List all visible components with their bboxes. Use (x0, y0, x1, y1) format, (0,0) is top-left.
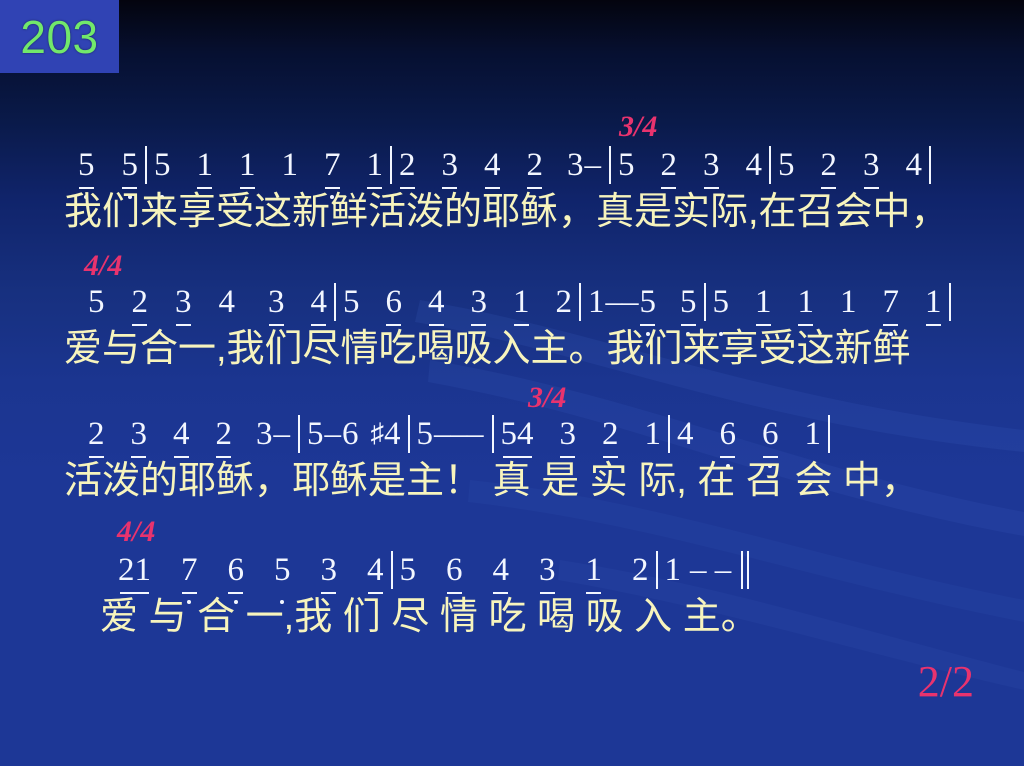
note: 5 (122, 149, 139, 182)
barline (145, 146, 147, 184)
note: 5 (307, 418, 324, 451)
note: 5 (501, 418, 518, 451)
note: 4 (517, 418, 534, 451)
barline (492, 415, 494, 453)
note-extension-dash: – – (689, 554, 732, 587)
notation-row-1: 5551117123423–52345234 (78, 146, 938, 184)
note: 5 (640, 286, 657, 319)
note: 3 (268, 286, 285, 319)
beamed-note-pair: 54 (501, 418, 534, 451)
note: 6 (228, 554, 245, 587)
note: 3 (863, 149, 880, 182)
lyrics-row-2: 爱与合一,我们尽情吃喝吸入主。我们来享受这新鲜 (64, 329, 911, 371)
note: 2 (118, 554, 135, 587)
note: 3 (567, 149, 584, 182)
notation-row-4: 21765345643121– – (118, 551, 749, 596)
hymn-number-badge: 203 (0, 0, 119, 73)
barline (334, 283, 336, 321)
barline (949, 283, 951, 321)
barline (656, 551, 658, 589)
note: 2 (399, 149, 416, 182)
note: 2 (132, 286, 149, 319)
note: 5 (343, 286, 360, 319)
note: 7 (181, 554, 198, 587)
barline (769, 146, 771, 184)
note: 6 (342, 418, 359, 451)
page-number: 2/2 (918, 660, 974, 704)
lyrics-row-1: 我们来享受这新鲜活泼的耶稣，真是实际,在召会中， (64, 192, 949, 234)
final-double-barline (741, 551, 749, 596)
time-signature-2: 4/4 (84, 251, 122, 281)
barline (579, 283, 581, 321)
note: 4 (173, 418, 190, 451)
background-swoosh-decoration (0, 0, 1024, 766)
note: 5 (417, 418, 434, 451)
note: 1 (239, 149, 256, 182)
note: 1 (135, 554, 152, 587)
note: 1 (925, 286, 942, 319)
note-extension-dash: –– (605, 286, 640, 319)
note: 7 (324, 149, 341, 182)
note: 2 (527, 149, 544, 182)
note: 2 (556, 286, 573, 319)
note: 1 (755, 286, 772, 319)
note: 5 (778, 149, 795, 182)
note: 4 (428, 286, 445, 319)
note-extension-dash: ––– (433, 418, 485, 451)
note: 6 (446, 554, 463, 587)
note: 4 (746, 149, 763, 182)
note: 2 (821, 149, 838, 182)
barline (668, 415, 670, 453)
note: 2 (661, 149, 678, 182)
note: 5 (680, 286, 697, 319)
note: 4 (484, 149, 501, 182)
note: 1 (798, 286, 815, 319)
note: 3 (539, 554, 556, 587)
barline (704, 283, 706, 321)
sharp-accidental-icon: ♯ (371, 420, 385, 447)
note: 2 (632, 554, 649, 587)
note: 2 (88, 418, 105, 451)
note: 7 (883, 286, 900, 319)
note: 4 (677, 418, 694, 451)
note: 1 (197, 149, 214, 182)
note: 3 (560, 418, 577, 451)
note-extension-dash: – (273, 418, 292, 451)
note: 1 (586, 554, 603, 587)
notation-row-2: 5234345643121––55511171 (88, 283, 958, 321)
note: 5 (88, 286, 105, 319)
note: 1 (840, 286, 857, 319)
note: 4 (367, 554, 384, 587)
note: 3 (442, 149, 459, 182)
note: 2 (216, 418, 233, 451)
barline (828, 415, 830, 453)
note: 1 (588, 286, 605, 319)
note: 4 (219, 286, 236, 319)
barline (929, 146, 931, 184)
barline (408, 415, 410, 453)
time-signature-3: 3/4 (528, 383, 566, 413)
note: 5 (274, 554, 291, 587)
time-signature-1: 3/4 (619, 112, 657, 142)
note: 5 (154, 149, 171, 182)
barline (298, 415, 300, 453)
note: 1 (513, 286, 530, 319)
beamed-note-pair: 21 (118, 554, 151, 587)
note: 1 (665, 554, 682, 587)
note: 2 (602, 418, 619, 451)
note: 3 (131, 418, 148, 451)
barline (609, 146, 611, 184)
note: 1 (645, 418, 662, 451)
note: 4 (311, 286, 328, 319)
hymn-number-text: 203 (20, 14, 98, 60)
time-signature-4: 4/4 (117, 517, 155, 547)
note: 1 (367, 149, 384, 182)
note: 5 (713, 286, 730, 319)
lyrics-row-3: 活泼的耶稣，耶稣是主！ 真 是 实 际, 在 召 会 中， (64, 461, 919, 503)
note: 4 (493, 554, 510, 587)
note: 3 (175, 286, 192, 319)
lyrics-row-4: 爱 与 合 一,我 们 尽 情 吃 喝 吸 入 主。 (100, 597, 759, 639)
note: 3 (471, 286, 488, 319)
note: 4 (384, 418, 401, 451)
notation-row-3: 23423–5–6♯45–––543214661 (88, 415, 837, 453)
barline (390, 146, 392, 184)
note-extension-dash: – (584, 149, 603, 182)
note: 3 (256, 418, 273, 451)
note-extension-dash: – (324, 418, 343, 451)
note: 4 (906, 149, 923, 182)
note: 6 (386, 286, 403, 319)
note: 5 (400, 554, 417, 587)
hymn-slide: 203 3/4 5551117123423–52345234 我们来享受这新鲜活… (0, 0, 1024, 766)
note: 6 (762, 418, 779, 451)
note: 5 (78, 149, 95, 182)
note: 1 (282, 149, 299, 182)
note: 3 (321, 554, 338, 587)
note: 3 (703, 149, 720, 182)
note: 1 (805, 418, 822, 451)
barline (391, 551, 393, 589)
note: 6 (720, 418, 737, 451)
note: 5 (618, 149, 635, 182)
